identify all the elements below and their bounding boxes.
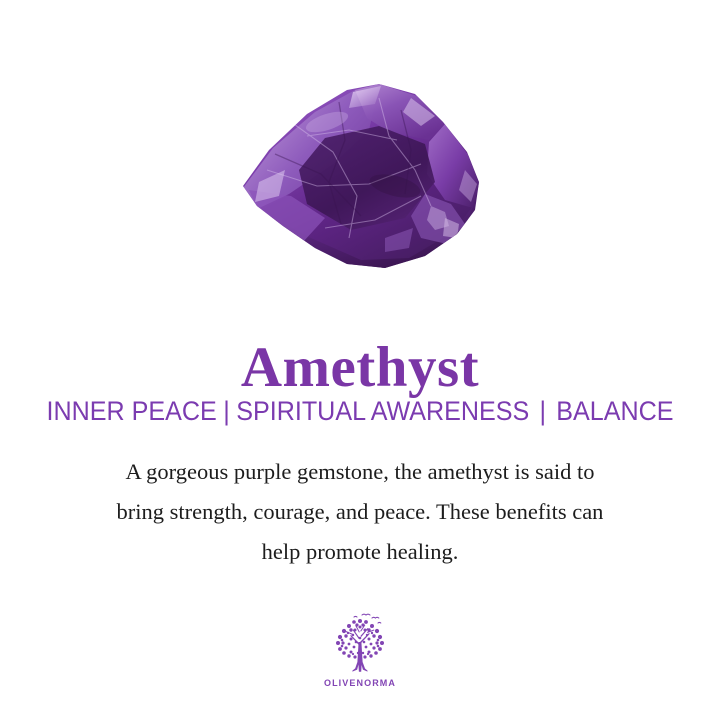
amethyst-crystal-image bbox=[0, 78, 720, 274]
keyword-strip: INNER PEACE|SPIRITUAL AWARENESS|BALANCE bbox=[25, 397, 695, 427]
description-line: bring strength, courage, and peace. Thes… bbox=[50, 492, 670, 532]
brand-logo: OLIVENORMA bbox=[0, 612, 720, 688]
amethyst-crystal-illustration bbox=[229, 78, 491, 274]
page-title: Amethyst bbox=[0, 338, 720, 398]
description-text: A gorgeous purple gemstone, the amethyst… bbox=[50, 452, 670, 572]
amethyst-info-card: Amethyst INNER PEACE|SPIRITUAL AWARENESS… bbox=[0, 0, 720, 720]
description-line: help promote healing. bbox=[50, 532, 670, 572]
description-line: A gorgeous purple gemstone, the amethyst… bbox=[50, 452, 670, 492]
keyword-separator: | bbox=[529, 397, 556, 427]
keyword-separator: | bbox=[217, 397, 237, 427]
olive-tree-icon bbox=[329, 612, 391, 676]
keyword-balance: BALANCE bbox=[556, 396, 673, 426]
brand-wordmark: OLIVENORMA bbox=[324, 678, 396, 688]
keyword-inner-peace: INNER PEACE bbox=[46, 396, 216, 426]
keyword-spiritual-awareness: SPIRITUAL AWARENESS bbox=[236, 396, 529, 426]
